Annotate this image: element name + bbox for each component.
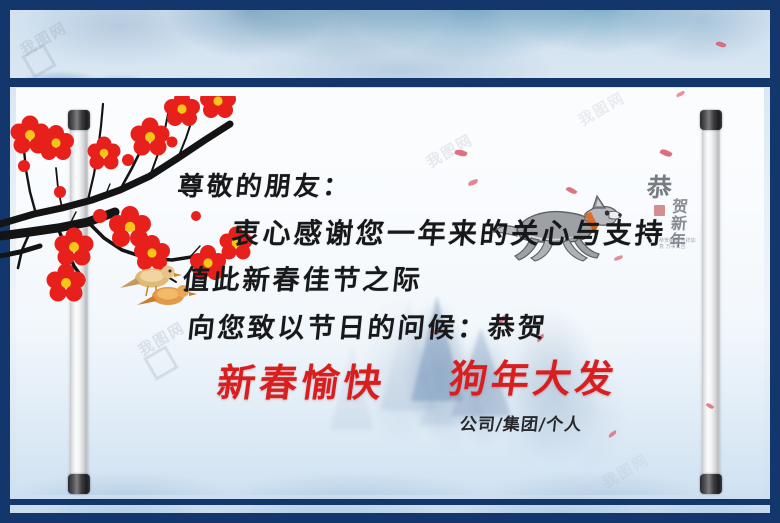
seal-stamp-icon <box>654 205 665 216</box>
frame-divider-top <box>10 78 770 87</box>
scroll-rod-right <box>700 110 722 494</box>
greeting-line-thanks: 衷心感谢您一年来的关心与支持 <box>230 212 668 252</box>
watermark-text: 我图网 <box>574 88 629 130</box>
watermark-text: 我图网 <box>422 129 477 173</box>
greeting-line-occasion: 值此新春佳节之际 <box>181 258 425 297</box>
scroll-rod-right-body <box>702 124 720 480</box>
scroll-rod-left-cap-bottom <box>68 474 90 494</box>
seal-calligraphy-block: 恭 贺新年 恭贺新年 吉祥如意 万事大吉 <box>645 168 703 264</box>
scroll-rod-right-cap-top <box>700 110 722 130</box>
scroll-rod-right-cap-bottom <box>700 474 722 494</box>
greeting-poster: 我图网 我图网 我图网 我图网 我图网 <box>0 0 780 523</box>
greeting-salutation: 尊敬的朋友： <box>176 166 354 203</box>
signature-line: 公司/集团/个人 <box>459 410 584 435</box>
greeting-line-wish: 向您致以节日的问候：恭贺 <box>186 306 550 345</box>
seal-small-text: 恭贺新年 吉祥如意 万事大吉 <box>659 238 699 250</box>
headline-right: 狗年大发 <box>446 348 622 403</box>
frame-divider-bottom <box>10 499 770 505</box>
panel-bottom-haze <box>16 395 764 495</box>
headline-left: 新春愉快 <box>214 352 390 407</box>
